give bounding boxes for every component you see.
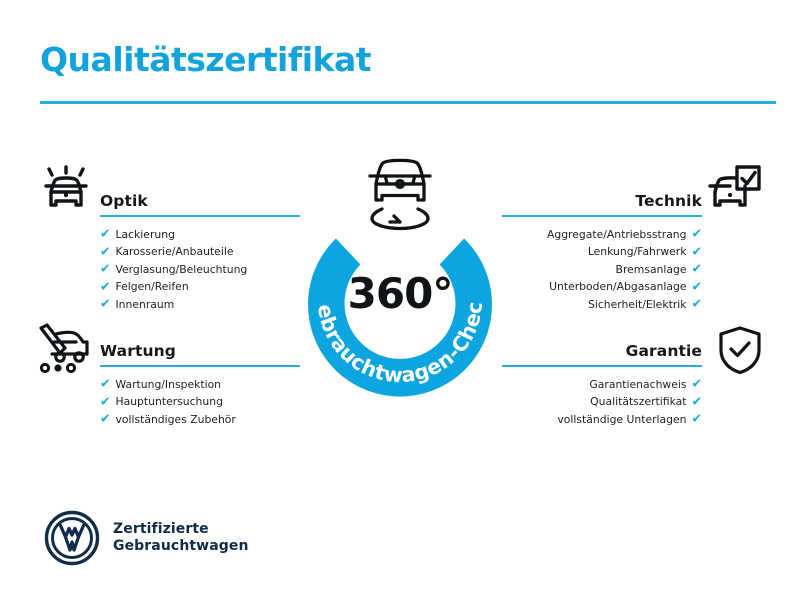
car-wrench-icon [34, 320, 94, 380]
check-item-label: vollständiges Zubehör [115, 411, 235, 428]
check-item: ✔Lackierung [100, 226, 300, 243]
footer-line-1: Zertifizierte [113, 521, 249, 538]
check-icon: ✔ [100, 228, 110, 241]
section-header-wartung: Wartung [100, 333, 300, 367]
check-icon: ✔ [692, 378, 702, 391]
section-header-garantie: Garantie [502, 333, 702, 367]
header-divider [40, 101, 776, 104]
check-item-label: Wartung/Inspektion [115, 376, 221, 393]
section-optik: Optik ✔Lackierung✔Karosserie/Anbauteile✔… [100, 183, 300, 313]
check-item-label: Lackierung [115, 226, 174, 243]
car-shine-icon [38, 162, 94, 222]
check-icon: ✔ [692, 413, 702, 426]
check-item-label: vollständige Unterlagen [557, 411, 686, 428]
section-header-optik: Optik [100, 183, 300, 217]
check-list-optik: ✔Lackierung✔Karosserie/Anbauteile✔Vergla… [100, 226, 300, 313]
car-rotation-icon [354, 152, 446, 232]
section-underline-wartung [100, 365, 300, 368]
page-title: Qualitätszertifikat [40, 40, 371, 79]
check-icon: ✔ [100, 378, 110, 391]
section-title-garantie: Garantie [626, 342, 702, 360]
check-item-label: Aggregate/Antriebsstrang [547, 226, 687, 243]
section-garantie: Garantie Garantienachweis✔Qualitätszerti… [502, 333, 702, 428]
check-list-wartung: ✔Wartung/Inspektion✔Hauptuntersuchung✔vo… [100, 376, 300, 428]
check-item: Qualitätszertifikat✔ [502, 393, 702, 410]
check-list-garantie: Garantienachweis✔Qualitätszertifikat✔vol… [502, 376, 702, 428]
footer-brand: Zertifizierte Gebrauchtwagen [44, 510, 249, 566]
check-item: Garantienachweis✔ [502, 376, 702, 393]
check-item-label: Karosserie/Anbauteile [115, 243, 233, 260]
check-icon: ✔ [100, 263, 110, 276]
check-item-label: Garantienachweis [589, 376, 686, 393]
check-item-label: Bremsanlage [616, 261, 687, 278]
check-item-label: Sicherheit/Elektrik [588, 296, 687, 313]
check-item: ✔Wartung/Inspektion [100, 376, 300, 393]
gebrauchtwagen-check-badge: Gebrauchtwagen-Check 360° [295, 195, 505, 405]
check-item: ✔Innenraum [100, 296, 300, 313]
check-item: Bremsanlage✔ [502, 261, 702, 278]
check-icon: ✔ [100, 280, 110, 293]
check-item-label: Felgen/Reifen [115, 278, 188, 295]
check-icon: ✔ [692, 263, 702, 276]
check-icon: ✔ [100, 298, 110, 311]
section-title-optik: Optik [100, 192, 148, 210]
check-icon: ✔ [692, 245, 702, 258]
check-item: ✔Karosserie/Anbauteile [100, 243, 300, 260]
check-item: ✔Felgen/Reifen [100, 278, 300, 295]
section-technik: Technik Aggregate/Antriebsstrang✔Lenkung… [502, 183, 702, 313]
section-underline-technik [502, 215, 702, 218]
check-item-label: Innenraum [115, 296, 174, 313]
check-item: Unterboden/Abgasanlage✔ [502, 278, 702, 295]
check-icon: ✔ [100, 395, 110, 408]
badge-number: 360° [295, 269, 505, 318]
footer-text: Zertifizierte Gebrauchtwagen [113, 521, 249, 555]
section-header-technik: Technik [502, 183, 702, 217]
footer-line-2: Gebrauchtwagen [113, 538, 249, 555]
check-item: vollständige Unterlagen✔ [502, 411, 702, 428]
section-underline-garantie [502, 365, 702, 368]
check-icon: ✔ [692, 280, 702, 293]
check-item: ✔Verglasung/Beleuchtung [100, 261, 300, 278]
check-icon: ✔ [692, 228, 702, 241]
section-title-wartung: Wartung [100, 342, 176, 360]
car-checkbox-icon [706, 162, 762, 222]
check-list-technik: Aggregate/Antriebsstrang✔Lenkung/Fahrwer… [502, 226, 702, 313]
check-icon: ✔ [692, 298, 702, 311]
check-icon: ✔ [100, 245, 110, 258]
shield-check-icon [716, 324, 764, 380]
check-item: ✔vollständiges Zubehör [100, 411, 300, 428]
check-item: Sicherheit/Elektrik✔ [502, 296, 702, 313]
check-item-label: Lenkung/Fahrwerk [588, 243, 687, 260]
check-item-label: Hauptuntersuchung [115, 393, 222, 410]
check-item: ✔Hauptuntersuchung [100, 393, 300, 410]
check-icon: ✔ [692, 395, 702, 408]
section-wartung: Wartung ✔Wartung/Inspektion✔Hauptuntersu… [100, 333, 300, 428]
check-item: Lenkung/Fahrwerk✔ [502, 243, 702, 260]
check-item-label: Unterboden/Abgasanlage [549, 278, 686, 295]
check-item-label: Verglasung/Beleuchtung [115, 261, 247, 278]
section-underline-optik [100, 215, 300, 218]
vw-logo [44, 510, 100, 566]
check-icon: ✔ [100, 413, 110, 426]
section-title-technik: Technik [635, 192, 702, 210]
check-item-label: Qualitätszertifikat [590, 393, 686, 410]
check-item: Aggregate/Antriebsstrang✔ [502, 226, 702, 243]
